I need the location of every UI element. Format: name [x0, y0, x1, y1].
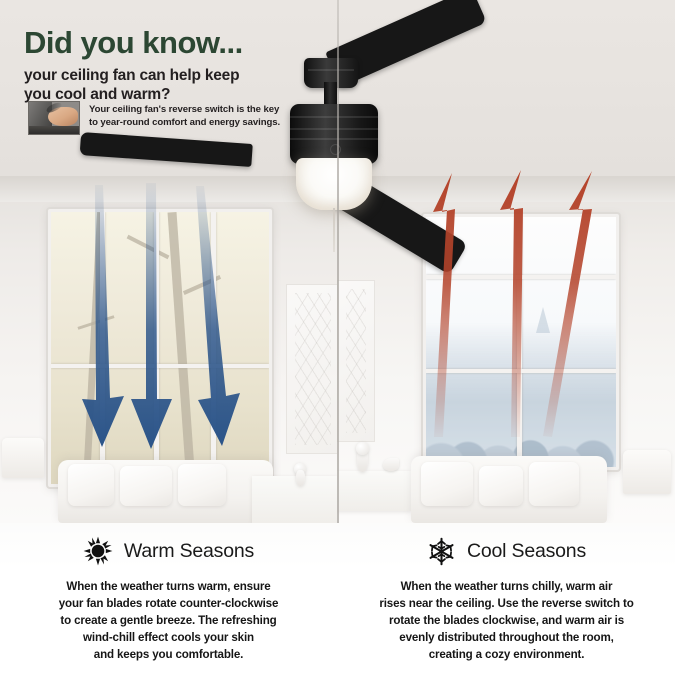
winter-floor-lamp-shade — [623, 450, 671, 494]
winter-wall-art — [337, 280, 375, 442]
door-mullion — [51, 364, 269, 368]
door-mullion — [100, 212, 105, 484]
subtitle-line-1: your ceiling fan can help keep — [24, 67, 239, 86]
ceiling-fan — [248, 46, 578, 246]
warm-body-line: your fan blades rotate counter-clockwise — [28, 595, 309, 612]
fan-light-globe — [296, 158, 372, 210]
warm-body-line: wind-chill effect cools your skin — [28, 629, 309, 646]
summer-floor-lamp-shade — [2, 438, 44, 478]
summer-french-doors — [48, 209, 272, 487]
fan-pull-chain — [333, 208, 335, 252]
winter-decor-bird — [383, 458, 399, 471]
cool-body-line: evenly distributed throughout the room, — [366, 629, 647, 646]
caption-bar: Warm Seasons When the weather turns warm… — [0, 523, 675, 675]
summer-sofa-cushion — [178, 464, 226, 506]
motor-ring — [290, 138, 378, 140]
winter-sideboard — [337, 471, 411, 511]
cool-body-line: When the weather turns chilly, warm air — [366, 578, 647, 595]
page-subtitle: your ceiling fan can help keep you cool … — [24, 67, 239, 105]
cool-body-line: rotate the blades clockwise, and warm ai… — [366, 612, 647, 629]
warm-seasons-section: Warm Seasons When the weather turns warm… — [0, 523, 337, 675]
warm-seasons-body: When the weather turns warm, ensure your… — [0, 573, 337, 663]
motor-ring — [290, 128, 378, 130]
warm-seasons-title: Warm Seasons — [124, 540, 254, 563]
winter-sofa-cushion — [479, 466, 523, 506]
winter-sofa-cushion — [529, 462, 579, 506]
fan-logo-icon — [330, 144, 341, 155]
motor-ring — [290, 116, 378, 118]
warm-seasons-header: Warm Seasons — [0, 529, 337, 573]
window-mullion — [426, 369, 616, 373]
window-mullion — [426, 275, 616, 279]
cool-body-line: creating a cozy environment. — [366, 646, 647, 663]
warm-body-line: and keeps you comfortable. — [28, 646, 309, 663]
cool-seasons-title: Cool Seasons — [467, 540, 586, 563]
summer-sideboard — [252, 476, 338, 523]
page-title: Did you know... — [24, 27, 243, 58]
summer-sofa-cushion — [68, 464, 114, 506]
cool-seasons-header: Cool Seasons — [338, 529, 675, 573]
sun-icon — [83, 536, 113, 566]
cool-seasons-body: When the weather turns chilly, warm air … — [338, 573, 675, 663]
thumbnail-callout: Your ceiling fan's reverse switch is the… — [28, 101, 280, 135]
warm-body-line: When the weather turns warm, ensure — [28, 578, 309, 595]
window-mullion — [517, 217, 522, 467]
warm-body-line: to create a gentle breeze. The refreshin… — [28, 612, 309, 629]
cool-body-line: rises near the ceiling. Use the reverse … — [366, 595, 647, 612]
infographic-poster: Did you know... your ceiling fan can hel… — [0, 0, 675, 675]
reverse-switch-thumbnail-image — [28, 101, 80, 135]
door-mullion — [154, 212, 159, 484]
summer-outdoor-view — [51, 212, 269, 484]
summer-sofa-cushion — [120, 466, 172, 506]
winter-decor-orb — [356, 442, 369, 455]
snowflake-icon — [427, 537, 456, 566]
cool-seasons-section: Cool Seasons When the weather turns chil… — [338, 523, 675, 675]
tree-trunk — [168, 212, 196, 484]
thumbnail-fan-base — [29, 126, 79, 134]
tree-branch — [127, 234, 170, 258]
summer-wall-art — [286, 284, 338, 454]
fan-motor-housing — [290, 104, 378, 164]
summer-decor-vase — [296, 470, 305, 486]
winter-sofa-cushion — [421, 462, 473, 506]
door-mullion — [211, 212, 216, 484]
